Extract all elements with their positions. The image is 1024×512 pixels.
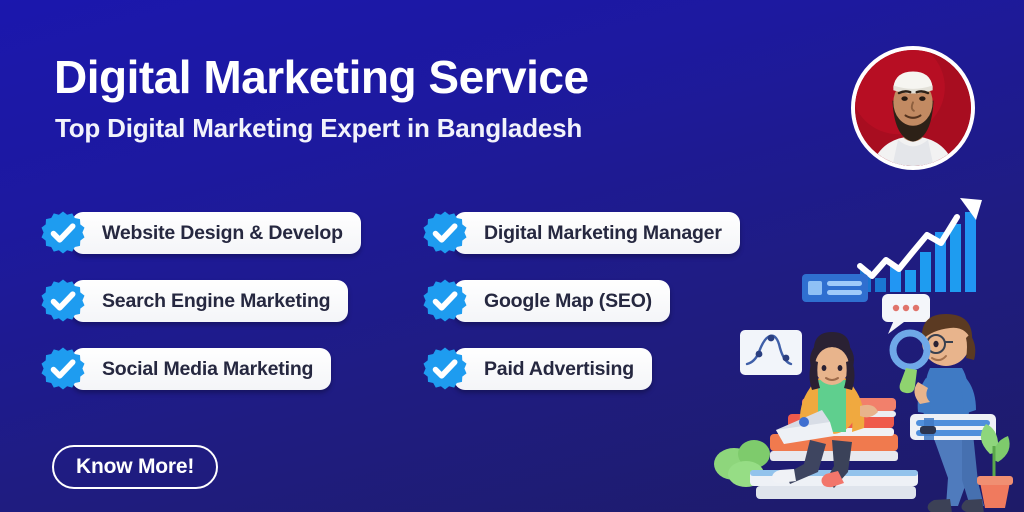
potted-plant [977, 424, 1013, 508]
verified-check-icon [422, 278, 468, 324]
page-title: Digital Marketing Service [54, 52, 589, 104]
page-subtitle: Top Digital Marketing Expert in Banglade… [55, 113, 582, 144]
feature-pill: Website Design & Develop [72, 212, 361, 254]
verified-check-icon [422, 346, 468, 392]
verified-check-icon [40, 210, 86, 256]
feature-column-right: Digital Marketing Manager Google Map (SE… [422, 199, 740, 403]
feature-pill: Google Map (SEO) [454, 280, 670, 322]
line-chart-card [740, 330, 802, 375]
avatar [851, 46, 975, 170]
list-item[interactable]: Paid Advertising [422, 335, 740, 403]
know-more-button[interactable]: Know More! [52, 445, 218, 489]
list-item[interactable]: Digital Marketing Manager [422, 199, 740, 267]
list-item[interactable]: Website Design & Develop [40, 199, 361, 267]
growth-bar-chart-with-arrow [860, 198, 982, 292]
feature-column-left: Website Design & Develop Search Engine M… [40, 199, 361, 403]
feature-pill: Paid Advertising [454, 348, 652, 390]
feature-pill: Search Engine Marketing [72, 280, 348, 322]
verified-check-icon [40, 346, 86, 392]
list-item[interactable]: Social Media Marketing [40, 335, 361, 403]
list-item[interactable]: Search Engine Marketing [40, 267, 361, 335]
3d-marketing-team-illustration [714, 182, 1024, 512]
marketing-banner: Digital Marketing Service Top Digital Ma… [0, 0, 1024, 512]
feature-pill: Digital Marketing Manager [454, 212, 740, 254]
verified-check-icon [422, 210, 468, 256]
speech-bubble [882, 294, 930, 334]
list-item[interactable]: Google Map (SEO) [422, 267, 740, 335]
blue-info-card [802, 274, 868, 302]
verified-check-icon [40, 278, 86, 324]
feature-pill: Social Media Marketing [72, 348, 331, 390]
